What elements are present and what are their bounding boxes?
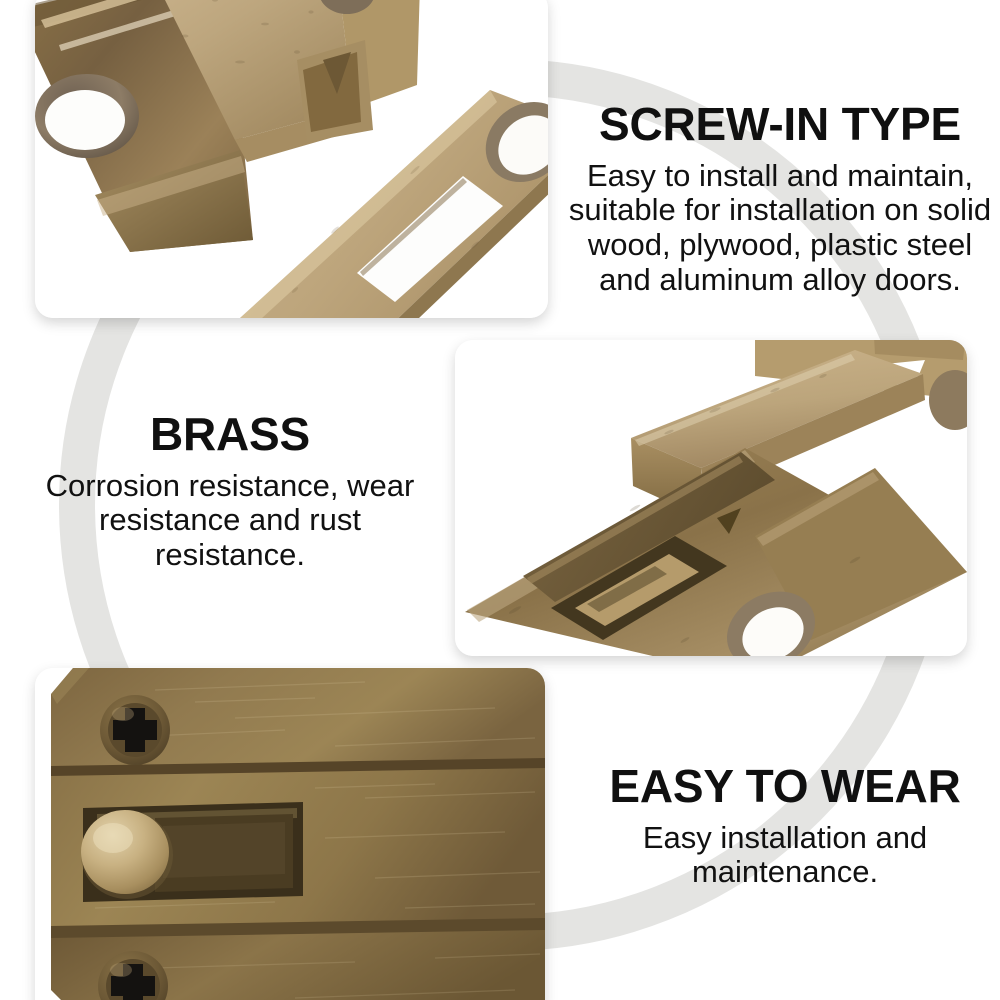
feature-body-line: resistance and rust bbox=[99, 502, 361, 537]
photo-panel-knob-and-screws bbox=[35, 668, 545, 1000]
feature-body-line: Easy installation and bbox=[643, 820, 927, 855]
feature-body-line: suitable for installation on solid bbox=[569, 192, 991, 227]
feature-body-line: resistance. bbox=[155, 537, 305, 572]
photo-bolt-slide-mechanism bbox=[455, 340, 967, 656]
feature-block-screw-in-type: SCREW-IN TYPE Easy to install and mainta… bbox=[560, 100, 1000, 298]
feature-block-easy-to-wear: EASY TO WEAR Easy installation and maint… bbox=[575, 762, 995, 890]
feature-heading-brass: BRASS bbox=[20, 410, 440, 459]
photo-latch-body-and-strike-plate bbox=[35, 0, 548, 318]
feature-body-brass: Corrosion resistance, wear resistance an… bbox=[20, 469, 440, 573]
photo-knob-and-screws bbox=[35, 668, 545, 1000]
feature-heading-easy-to-wear: EASY TO WEAR bbox=[575, 762, 995, 811]
photo-panel-bolt-slide bbox=[455, 340, 967, 656]
feature-body-line: Easy to install and maintain, bbox=[587, 158, 973, 193]
feature-body-screw-in-type: Easy to install and maintain, suitable f… bbox=[560, 159, 1000, 298]
feature-body-line: Corrosion resistance, wear bbox=[46, 468, 415, 503]
feature-body-easy-to-wear: Easy installation and maintenance. bbox=[575, 821, 995, 890]
feature-heading-screw-in-type: SCREW-IN TYPE bbox=[560, 100, 1000, 149]
feature-block-brass: BRASS Corrosion resistance, wear resista… bbox=[20, 410, 440, 573]
infographic-canvas: SCREW-IN TYPE Easy to install and mainta… bbox=[0, 0, 1000, 1000]
feature-body-line: and aluminum alloy doors. bbox=[599, 262, 961, 297]
photo-panel-latch-body bbox=[35, 0, 548, 318]
feature-body-line: maintenance. bbox=[692, 854, 878, 889]
feature-body-line: wood, plywood, plastic steel bbox=[588, 227, 972, 262]
